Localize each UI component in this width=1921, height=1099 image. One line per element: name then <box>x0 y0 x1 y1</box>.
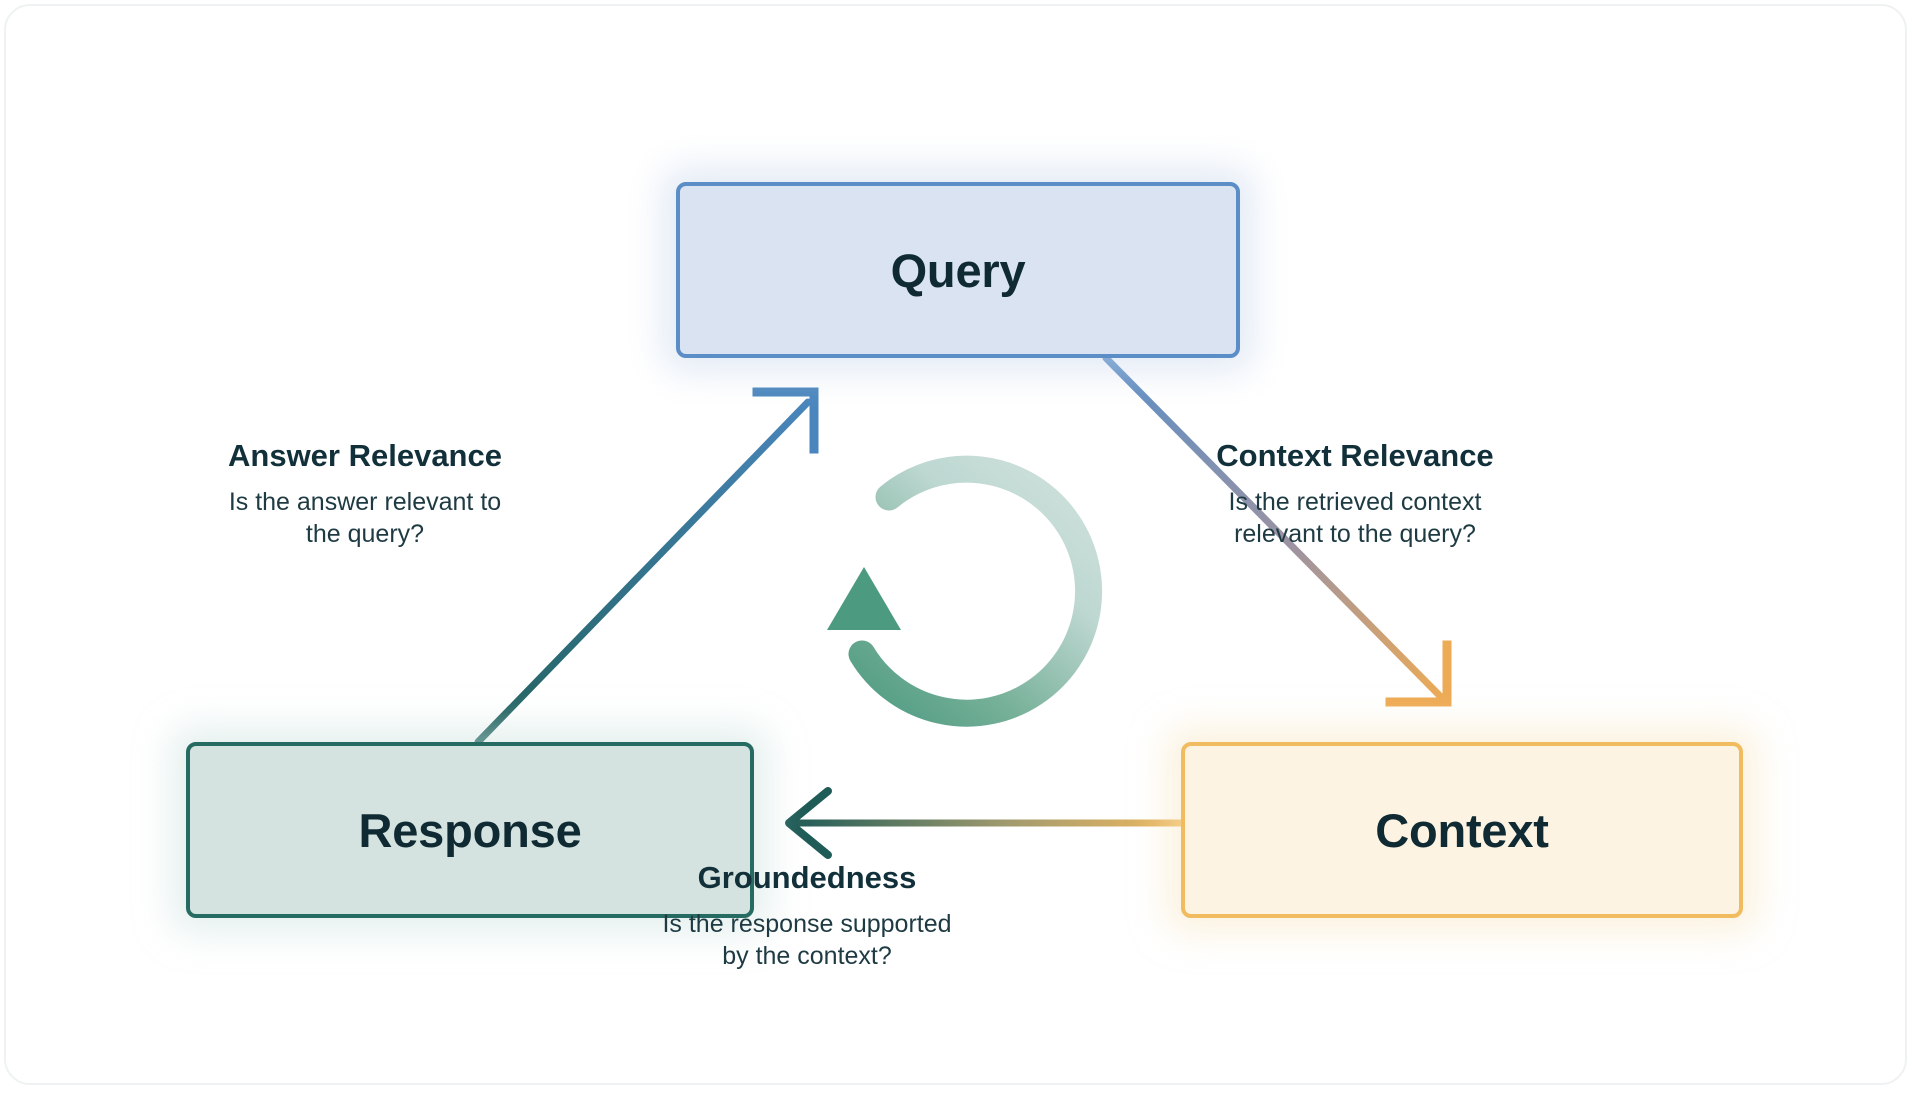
edge-label-answer-relevance: Answer Relevance Is the answer relevant … <box>128 438 602 550</box>
node-query[interactable]: Query <box>676 182 1240 358</box>
groundedness-question-line2: by the context? <box>570 940 1044 972</box>
diagram-canvas: Query Response Context Answer Relevance … <box>0 0 1921 1099</box>
circular-refresh-arrow-icon <box>827 469 1089 713</box>
node-context-label: Context <box>1375 807 1549 854</box>
edge-label-groundedness: Groundedness Is the response supported b… <box>570 860 1044 972</box>
answer-relevance-question-line2: the query? <box>128 518 602 550</box>
answer-relevance-question-line1: Is the answer relevant to <box>128 486 602 518</box>
groundedness-question: Is the response supported by the context… <box>570 908 1044 972</box>
node-context[interactable]: Context <box>1181 742 1743 918</box>
context-relevance-question: Is the retrieved context relevant to the… <box>1118 486 1592 550</box>
edge-groundedness <box>789 791 1181 855</box>
groundedness-question-line1: Is the response supported <box>570 908 1044 940</box>
context-relevance-question-line2: relevant to the query? <box>1118 518 1592 550</box>
node-query-label: Query <box>891 247 1026 294</box>
edge-label-context-relevance: Context Relevance Is the retrieved conte… <box>1118 438 1592 550</box>
answer-relevance-question: Is the answer relevant to the query? <box>128 486 602 550</box>
context-relevance-question-line1: Is the retrieved context <box>1118 486 1592 518</box>
context-relevance-title: Context Relevance <box>1118 438 1592 475</box>
answer-relevance-title: Answer Relevance <box>128 438 602 475</box>
groundedness-title: Groundedness <box>570 860 1044 897</box>
node-response-label: Response <box>358 807 581 854</box>
